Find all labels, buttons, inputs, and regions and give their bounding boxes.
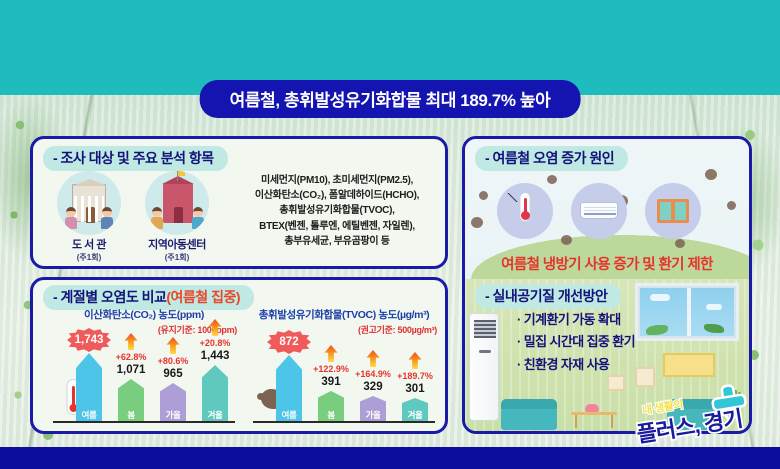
bar-category-label: 봄: [118, 408, 144, 421]
chart-panel: - 계절별 오염도 비교(여름철 집중) 이산화탄소(CO₂) 농도(ppm) …: [30, 277, 448, 434]
bar: 봄: [318, 391, 344, 421]
bar-category-label: 여름: [76, 408, 102, 421]
bar-value-label: 1,443: [201, 350, 230, 362]
bar-delta-label: +122.9%: [313, 364, 349, 374]
bar-delta-label: +62.8%: [116, 352, 147, 362]
bar-group: 겨울1,443+20.8%: [197, 365, 233, 421]
table-illustration: [571, 412, 617, 428]
increase-arrow-icon: [409, 352, 422, 369]
improve-item: · 밀집 시간대 집중 환기: [517, 331, 635, 353]
place-community-center: 지역아동센터 (주1회): [135, 171, 219, 263]
bar: 봄: [118, 379, 144, 421]
bar: 겨울: [402, 398, 428, 421]
chart-tag-plain: - 계절별 오염도 비교: [53, 289, 166, 305]
bar-value-label: 965: [163, 368, 182, 380]
air-conditioner-icon: [571, 183, 627, 239]
chart-plot-area: 여름1,743봄1,071+62.8%가을965+80.6%겨울1,443+20…: [45, 337, 243, 429]
thermometer-icon: [497, 183, 553, 239]
subtitle-badge: 여름철, 총휘발성유기화합물 최대 189.7% 높아: [200, 80, 581, 118]
improve-section-tag: - 실내공기질 개선방안: [475, 284, 621, 309]
bar-group: 여름1,743: [71, 353, 107, 421]
cause-caption: 여름철 냉방기 사용 증가 및 환기 제한: [465, 253, 749, 274]
bar-category-label: 겨울: [402, 408, 428, 421]
survey-item: 이산화탄소(CO₂), 폼알데하이드(HCHO),: [231, 188, 443, 203]
place-label: 도 서 관: [47, 236, 131, 252]
chart-standard-note: (권고기준: 500µg/m³): [245, 323, 443, 336]
teapot-icon: [585, 404, 599, 412]
increase-arrow-icon: [167, 337, 180, 354]
bar-category-label: 가을: [160, 408, 186, 421]
survey-panel: - 조사 대상 및 주요 분석 항목 도 서 관 (주1회) 지역아동센터 (주…: [30, 136, 448, 269]
bar-group: 겨울301+189.7%: [397, 398, 433, 421]
open-window-illustration: [635, 283, 739, 341]
bar-value-label: 301: [405, 383, 424, 395]
bar: 여름: [76, 353, 102, 421]
bar: 가을: [160, 383, 186, 421]
bar-category-label: 봄: [318, 408, 344, 421]
bar-delta-label: +20.8%: [200, 338, 231, 348]
bar: 가을: [360, 396, 386, 421]
bar-value-label: 329: [363, 381, 382, 393]
chart-title: 총휘발성유기화합물(TVOC) 농도(µg/m³): [245, 307, 443, 322]
survey-item: 총부유세균, 부유곰팡이 등: [231, 234, 443, 249]
bar-value-label: 391: [321, 376, 340, 388]
chart-axis: [53, 421, 235, 423]
community-center-icon: [145, 171, 209, 235]
chart-title: 이산화탄소(CO₂) 농도(ppm): [45, 307, 243, 322]
picture-frame: [607, 375, 625, 391]
survey-places: 도 서 관 (주1회) 지역아동센터 (주1회): [47, 171, 227, 266]
bar-category-label: 겨울: [202, 408, 228, 421]
brand-logo: 내 생활의 플러스, 경기: [634, 389, 774, 447]
survey-item: 총휘발성유기화합물(TVOC),: [231, 203, 443, 218]
place-frequency: (주1회): [135, 252, 219, 263]
bar-group: 봄391+122.9%: [313, 391, 349, 421]
place-frequency: (주1회): [47, 252, 131, 263]
place-label: 지역아동센터: [135, 236, 219, 252]
bar-value-label: 1,071: [117, 364, 146, 376]
bar-delta-label: +164.9%: [355, 369, 391, 379]
bar-delta-label: +80.6%: [158, 356, 189, 366]
bar-delta-label: +189.7%: [397, 371, 433, 381]
cause-section: - 여름철 오염 증가 원인 여름철 냉방기 사용 증가 및 환기 제한: [465, 139, 749, 279]
footer-band: [0, 447, 780, 469]
chart-co2: 이산화탄소(CO₂) 농도(ppm) (유지기준: 1000ppm) 여름1,7…: [45, 307, 243, 432]
sofa-illustration: [501, 406, 557, 430]
library-icon: [57, 171, 121, 235]
improve-list: · 기계환기 가동 확대 · 밀집 시간대 집중 환기 · 친환경 자재 사용: [517, 309, 635, 376]
increase-arrow-icon: [325, 345, 338, 362]
chart-axis: [253, 421, 435, 423]
bar-group: 봄1,071+62.8%: [113, 379, 149, 421]
standing-air-conditioner-icon: [469, 313, 499, 421]
improve-item: · 친환경 자재 사용: [517, 354, 635, 376]
bar-category-label: 여름: [276, 408, 302, 421]
survey-items-list: 미세먼지(PM10), 초미세먼지(PM2.5), 이산화탄소(CO₂), 폼알…: [231, 173, 443, 249]
chart-tag-highlight: (여름철 집중): [166, 289, 240, 305]
survey-item: 미세먼지(PM10), 초미세먼지(PM2.5),: [231, 173, 443, 188]
bar: 여름: [276, 355, 302, 421]
picture-frame: [663, 353, 715, 377]
place-library: 도 서 관 (주1회): [47, 171, 131, 263]
chart-plot-area: 여름872봄391+122.9%가을329+164.9%겨울301+189.7%: [245, 337, 443, 429]
chart-tvoc: 총휘발성유기화합물(TVOC) 농도(µg/m³) (권고기준: 500µg/m…: [245, 307, 443, 432]
survey-section-tag: - 조사 대상 및 주요 분석 항목: [43, 146, 228, 171]
bar-group: 여름872: [271, 355, 307, 421]
bar-group: 가을329+164.9%: [355, 396, 391, 421]
picture-frame: [635, 367, 655, 387]
bar-group: 가을965+80.6%: [155, 383, 191, 421]
bar: 겨울: [202, 365, 228, 421]
improve-item: · 기계환기 가동 확대: [517, 309, 635, 331]
bar-category-label: 가을: [360, 408, 386, 421]
cause-section-tag: - 여름철 오염 증가 원인: [475, 146, 628, 171]
survey-item: BTEX(벤젠, 톨루엔, 에틸벤젠, 자일렌),: [231, 219, 443, 234]
increase-arrow-icon: [367, 350, 380, 367]
closed-window-icon: [645, 183, 701, 239]
